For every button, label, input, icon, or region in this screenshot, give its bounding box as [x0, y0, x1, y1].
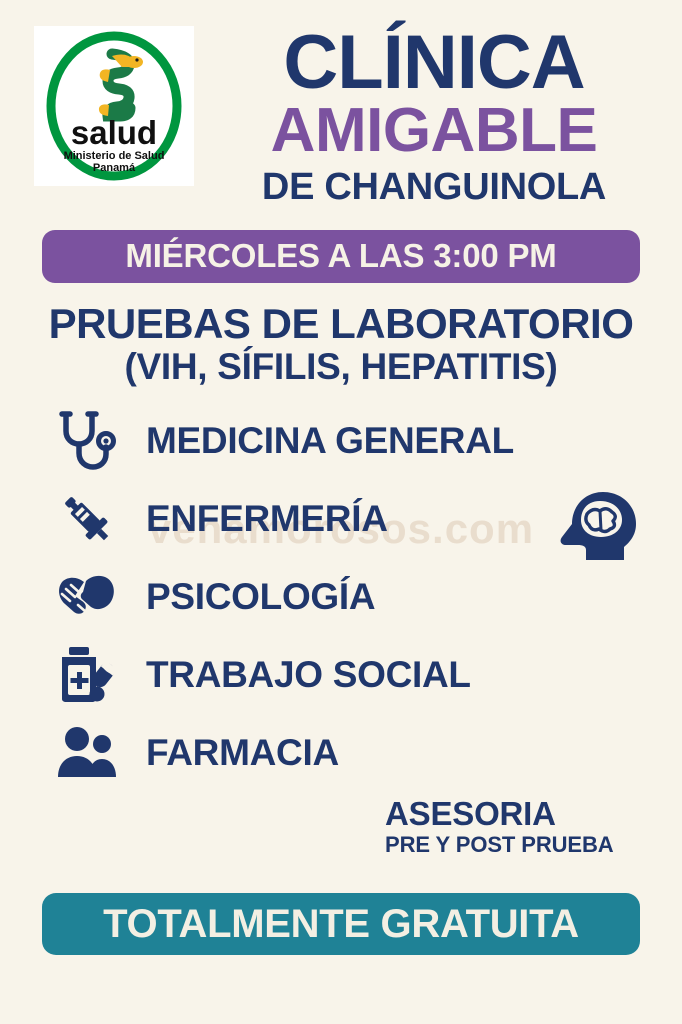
service-row: TRABAJO SOCIAL [56, 636, 682, 714]
lab-tests-block: PRUEBAS DE LABORATORIO (VIH, SÍFILIS, HE… [0, 303, 682, 389]
service-label: ENFERMERÍA [146, 498, 388, 540]
services-list: MEDICINA GENERAL ENFERMERÍA [0, 402, 682, 792]
medicine-bottle-pills-icon [56, 644, 118, 706]
service-row: MEDICINA GENERAL [56, 402, 682, 480]
service-row: FARMACIA [56, 714, 682, 792]
poster-header: salud Ministerio de Salud Panamá CLÍNICA… [0, 0, 682, 208]
lab-tests-subtitle: (VIH, SÍFILIS, HEPATITIS) [0, 345, 682, 389]
header-titles: CLÍNICA AMIGABLE DE CHANGUINOLA [194, 26, 662, 208]
salud-ministry-panama-logo: salud Ministerio de Salud Panamá [34, 26, 194, 186]
title-amigable: AMIGABLE [206, 100, 662, 162]
head-brain-icon [556, 490, 640, 564]
free-banner: TOTALMENTE GRATUITA [42, 893, 640, 955]
lab-tests-title: PRUEBAS DE LABORATORIO [0, 303, 682, 345]
asesoria-title: ASESORIA [385, 797, 614, 830]
schedule-banner: MIÉRCOLES A LAS 3:00 PM [42, 230, 640, 283]
service-label: PSICOLOGÍA [146, 576, 375, 618]
syringe-icon [56, 488, 118, 550]
asesoria-block: ASESORIA PRE Y POST PRUEBA [385, 797, 614, 858]
title-de-changuinola: DE CHANGUINOLA [206, 168, 662, 208]
free-banner-label: TOTALMENTE GRATUITA [103, 902, 579, 947]
svg-text:salud: salud [71, 114, 157, 151]
service-label: TRABAJO SOCIAL [146, 654, 471, 696]
poster-canvas: venamorosos.com salud Ministerio de [0, 0, 682, 1024]
stethoscope-icon [56, 410, 118, 472]
asesoria-subtitle: PRE Y POST PRUEBA [385, 832, 614, 858]
title-clinica: CLÍNICA [206, 28, 662, 98]
schedule-label: MIÉRCOLES A LAS 3:00 PM [125, 237, 556, 275]
handshake-icon [56, 566, 118, 628]
svg-text:Panamá: Panamá [93, 162, 136, 174]
service-row: PSICOLOGÍA [56, 558, 682, 636]
two-people-icon [56, 722, 118, 784]
service-label: MEDICINA GENERAL [146, 420, 514, 462]
service-label: FARMACIA [146, 732, 339, 774]
svg-text:Ministerio de Salud: Ministerio de Salud [64, 150, 165, 162]
